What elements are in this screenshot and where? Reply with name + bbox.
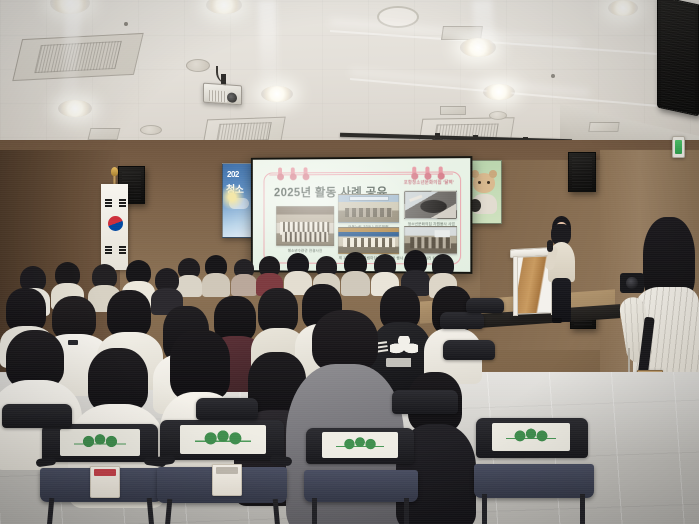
chair-leg	[482, 494, 487, 524]
sprinkler-head	[551, 74, 555, 78]
green-sprout-emblem	[336, 437, 385, 454]
chair-backrest	[196, 398, 258, 420]
slide-pin	[304, 167, 308, 175]
projector-vent	[209, 90, 227, 102]
chair-logo	[322, 432, 398, 458]
presenter-pants	[552, 278, 571, 322]
attendee-hair	[312, 310, 378, 372]
slide-pin	[413, 166, 417, 174]
ceiling-vent-small	[440, 106, 466, 115]
attendee-torso	[202, 273, 230, 297]
attendee-torso	[341, 271, 370, 296]
chair-leg	[580, 494, 585, 524]
chair-logo	[180, 425, 266, 454]
empty-chair[interactable]	[34, 424, 166, 524]
slide-photo-group-outdoor	[276, 206, 334, 246]
empty-chair[interactable]	[152, 420, 292, 524]
podium-leg	[513, 256, 518, 316]
attendee	[374, 254, 396, 290]
slide-photo-stage-banner-group	[338, 227, 399, 254]
ceiling-vent-small	[88, 128, 121, 140]
presenter-shoe	[552, 318, 562, 323]
slide-pin	[426, 166, 430, 174]
slide-photo-classroom-workshop	[338, 194, 399, 223]
gift-bag[interactable]	[212, 464, 242, 496]
slide-subtitle: 포항청소년문화의집 '달뫼'	[404, 180, 454, 186]
chair-leg	[312, 498, 317, 524]
ceiling-speaker-dome	[489, 111, 507, 120]
slide-pin	[278, 167, 282, 175]
slide-pin	[291, 167, 295, 175]
poster-line-1: 202	[227, 170, 239, 179]
slide-photo-handcraft-closeup	[404, 191, 457, 219]
chair-seat	[304, 470, 418, 502]
lens-flare	[472, 0, 496, 61]
chair-logo	[492, 423, 570, 451]
chair-seat	[474, 464, 594, 498]
presenter	[546, 216, 580, 322]
gift-bag[interactable]	[90, 466, 120, 498]
attendee	[205, 255, 227, 291]
chair-logo	[60, 429, 140, 456]
camera	[620, 273, 644, 293]
chair-armrest	[152, 455, 175, 467]
sprinkler-head	[124, 22, 128, 26]
green-sprout-emblem	[195, 430, 250, 449]
projector-lens	[227, 92, 237, 103]
ceiling-speaker-dome	[140, 125, 162, 135]
empty-chair[interactable]	[470, 418, 598, 524]
chair-backrest	[440, 312, 484, 329]
attendee-hair	[88, 348, 148, 412]
chair-backrest	[466, 298, 504, 313]
attendee	[155, 268, 179, 310]
attendee-hair	[170, 330, 230, 400]
chair-armrest	[36, 457, 57, 468]
empty-chair[interactable]	[300, 428, 420, 524]
attendee	[259, 256, 280, 290]
attendee-hair	[107, 290, 151, 338]
attendee	[234, 259, 254, 291]
chair-armrest	[269, 455, 292, 467]
chair-leg	[404, 498, 409, 524]
chair-backrest	[443, 340, 495, 360]
green-sprout-emblem	[506, 428, 556, 446]
attendee	[404, 250, 427, 290]
emergency-exit-sign	[672, 136, 685, 158]
ceiling-vent-small	[588, 122, 619, 132]
ceiling-projector	[203, 83, 242, 106]
slide-pin	[439, 166, 443, 174]
chair-backrest	[392, 390, 458, 414]
ceiling-speaker-dome	[186, 59, 210, 72]
chair-backrest	[2, 404, 72, 428]
exit-sign-glow	[675, 140, 683, 155]
lens-flare	[258, 0, 279, 96]
wall-speaker	[568, 152, 596, 192]
ceiling-downlight	[608, 0, 638, 16]
attendee	[344, 252, 367, 290]
room-photo-scene: 202 청소 2025년 활동 사례 공유	[0, 0, 699, 524]
green-sprout-emblem	[74, 434, 125, 451]
microphone	[547, 240, 553, 252]
wall-speaker	[657, 0, 699, 116]
attendee-torso	[231, 274, 257, 296]
attendee	[178, 258, 200, 292]
